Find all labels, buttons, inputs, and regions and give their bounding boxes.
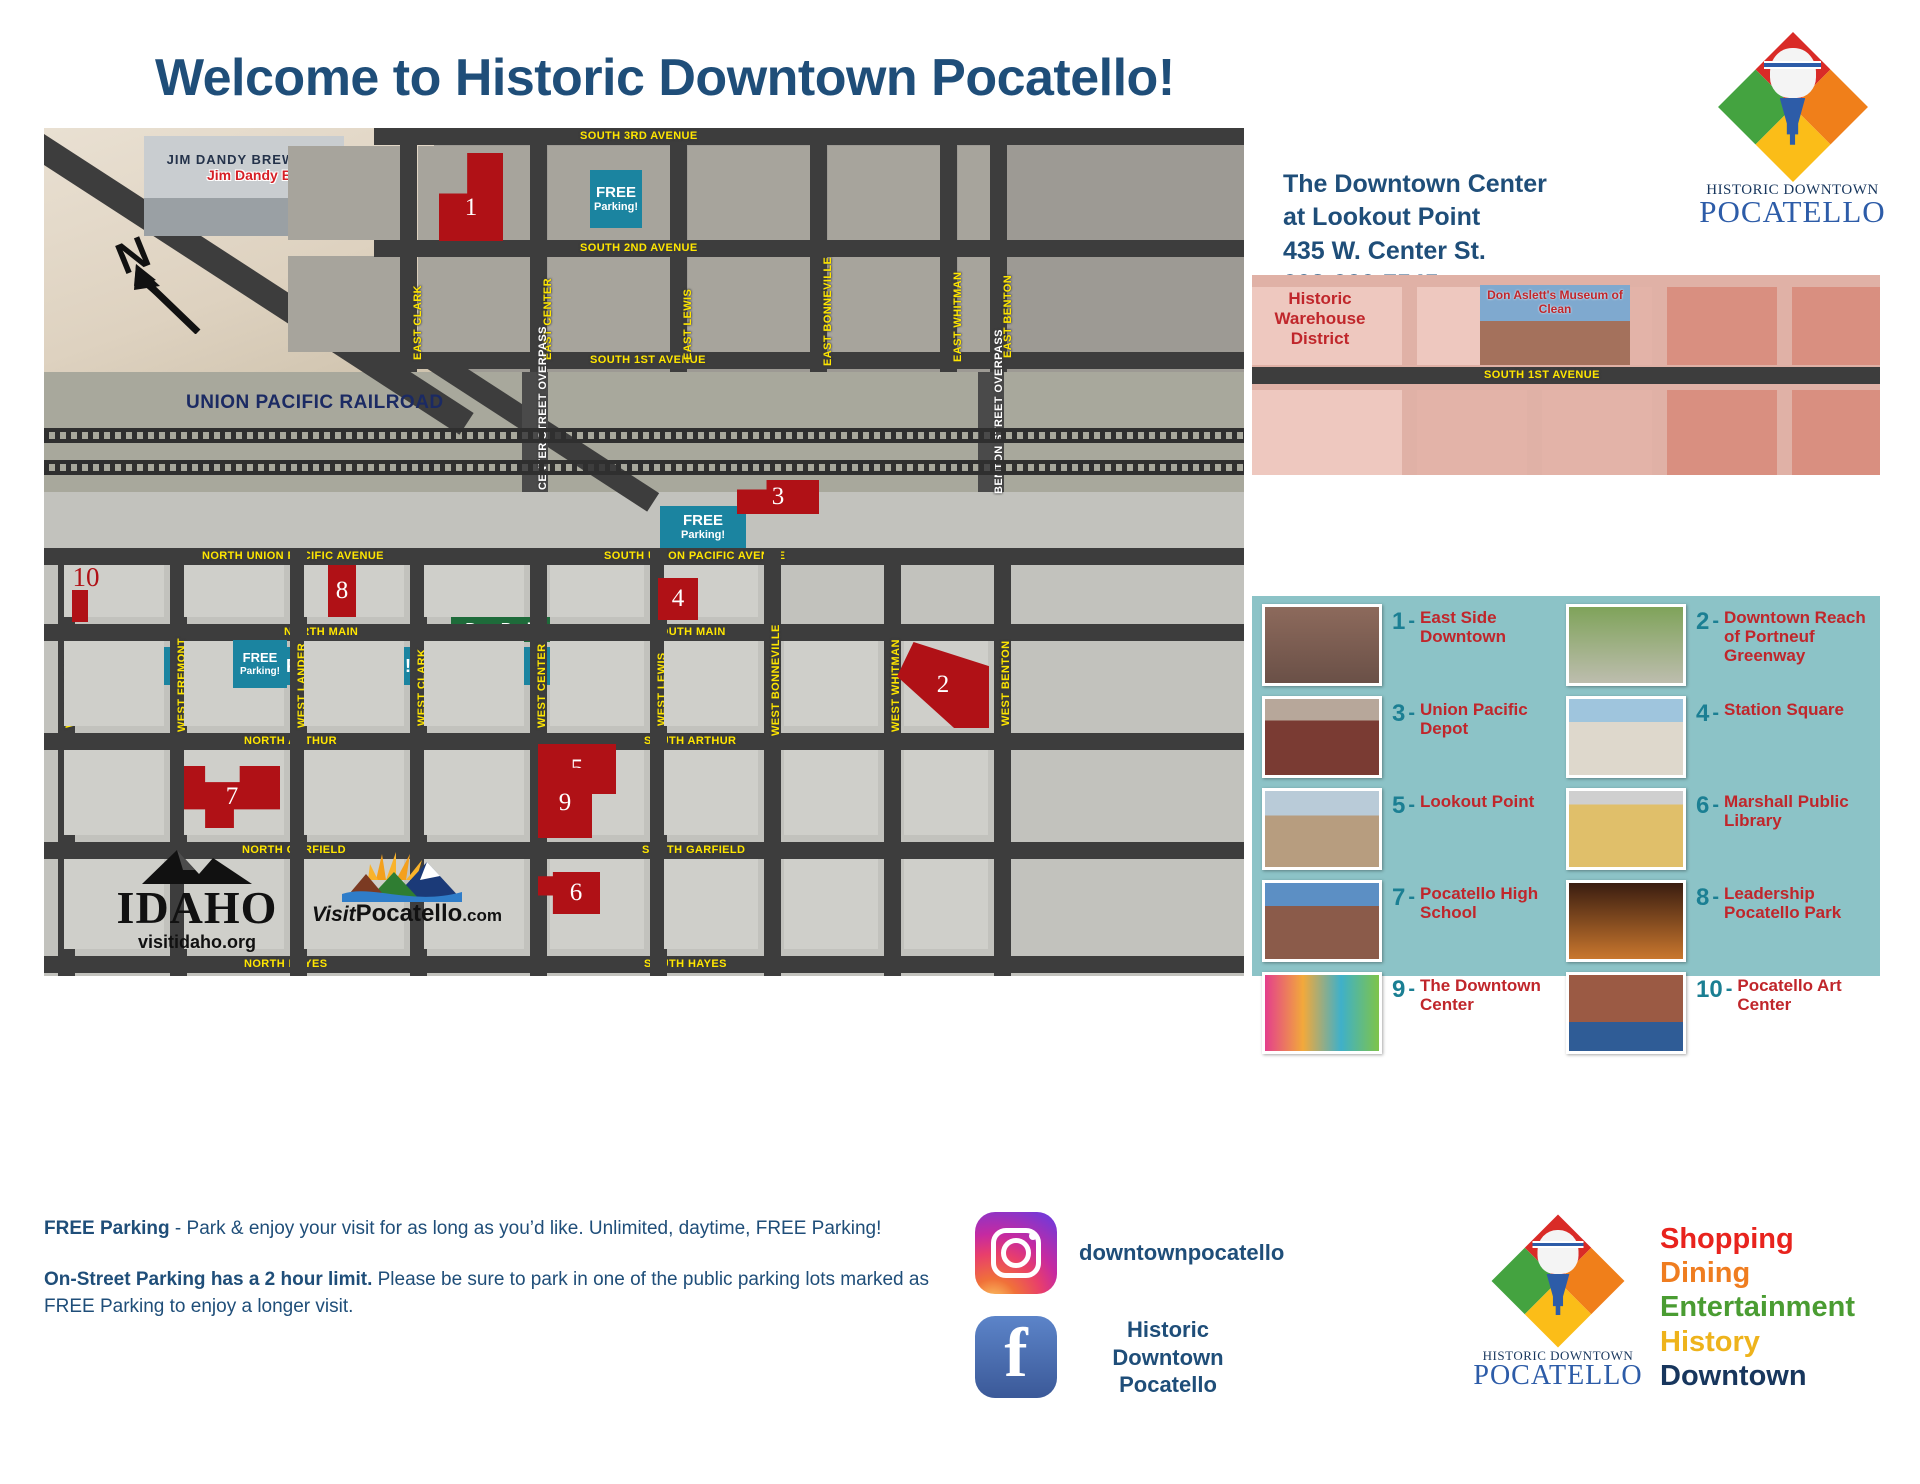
street-label-south-3rd-avenue: SOUTH 3RD AVENUE <box>580 130 698 142</box>
legend-row: 7-Pocatello High School 8-Leadership Poc… <box>1262 880 1870 972</box>
legend-label-6: Marshall Public Library <box>1724 792 1870 830</box>
map-block <box>1252 390 1402 475</box>
legend-number-1: 1 <box>1392 608 1405 646</box>
torch-icon <box>1538 1230 1579 1334</box>
map-block <box>784 859 878 949</box>
street-label-south-union-pacific-avenue: SOUTH UNION PACIFIC AVENUE <box>604 550 785 562</box>
legend-thumbnail-2 <box>1566 604 1686 686</box>
visit-pocatello-main: Pocatello <box>356 900 463 927</box>
instagram-icon[interactable] <box>975 1212 1057 1294</box>
railroad-track-2 <box>44 460 1244 475</box>
taglines-list: Shopping Dining Entertainment History Do… <box>1660 1222 1855 1393</box>
legend-dash-2: - <box>1709 608 1724 665</box>
legend-number-8: 8 <box>1696 884 1709 922</box>
legend-label-2: Downtown Reach of Portneuf Greenway <box>1724 608 1870 665</box>
map-block <box>1667 390 1777 475</box>
legend-dash-9: - <box>1405 976 1420 1014</box>
museum-of-clean-label: Don Aslett's Museum of Clean <box>1480 285 1630 317</box>
legend-dash-5: - <box>1405 792 1420 820</box>
legend-item-6[interactable]: 6-Marshall Public Library <box>1566 788 1870 880</box>
facebook-icon[interactable]: f <box>975 1316 1057 1398</box>
social-links: downtownpocatello f Historic Downtown Po… <box>975 1212 1395 1421</box>
footer-parking-info: FREE Parking - Park & enjoy your visit f… <box>44 1216 944 1321</box>
map-marker-10-number: 10 <box>73 562 100 593</box>
legend-number-10: 10 <box>1696 976 1723 1014</box>
facebook-name: Historic Downtown Pocatello <box>1057 1316 1257 1399</box>
legend-row: 1-East Side Downtown 2-Downtown Reach of… <box>1262 604 1870 696</box>
map-block <box>1792 390 1880 475</box>
map-block <box>288 256 408 352</box>
legend-thumbnail-3 <box>1262 696 1382 778</box>
legend-label-9: The Downtown Center <box>1420 976 1566 1014</box>
railroad-track-1 <box>44 428 1244 443</box>
map-block <box>828 146 948 240</box>
free-parking-badge-3-line2: Parking! <box>240 666 280 678</box>
map-block <box>184 565 284 617</box>
visit-pocatello-suffix: .com <box>462 906 502 925</box>
street-label-east-clark: EAST CLARK <box>412 285 424 360</box>
museum-of-clean-photo: Don Aslett's Museum of Clean <box>1480 285 1630 365</box>
railroad-label: UNION PACIFIC RAILROAD <box>186 392 444 414</box>
map-block <box>688 146 818 240</box>
map-block <box>304 750 404 835</box>
legend-label-4: Station Square <box>1724 700 1844 728</box>
legend-number-9: 9 <box>1392 976 1405 1014</box>
legend-thumbnail-7 <box>1262 880 1382 962</box>
map-block <box>1417 390 1527 475</box>
historic-warehouse-district-panel: SOUTH 1ST AVENUE Historic Warehouse Dist… <box>1252 275 1880 475</box>
instagram-handle: downtownpocatello <box>1057 1239 1284 1267</box>
on-street-parking-paragraph: On-Street Parking has a 2 hour limit. Pl… <box>44 1267 944 1321</box>
street-west-whitman <box>884 548 901 976</box>
tagline-downtown: Downtown <box>1660 1359 1855 1393</box>
street-south-1st-avenue <box>374 352 1244 369</box>
legend-dash-3: - <box>1405 700 1420 738</box>
legend-panel: 1-East Side Downtown 2-Downtown Reach of… <box>1252 596 1880 976</box>
footer-logo: HISTORIC DOWNTOWN POCATELLO <box>1458 1218 1658 1392</box>
legend-item-5[interactable]: 5-Lookout Point <box>1262 788 1566 880</box>
map-marker-9-number: 9 <box>559 789 572 817</box>
map-marker-2-number: 2 <box>937 671 950 699</box>
map-block <box>664 859 758 949</box>
legend-dash-4: - <box>1709 700 1724 728</box>
legend-dash-8: - <box>1709 884 1724 922</box>
on-street-parking-bold: On-Street Parking has a 2 hour limit. <box>44 1269 372 1290</box>
north-arrow-icon: N <box>90 224 210 334</box>
street-label-west-bonneville: WEST BONNEVILLE <box>770 624 782 736</box>
map-block <box>1667 287 1777 365</box>
map-block <box>904 859 988 949</box>
street-label-south-1st-avenue-east: SOUTH 1ST AVENUE <box>1484 369 1600 381</box>
map-marker-7-number: 7 <box>226 783 239 811</box>
visit-pocatello-pre: Visit <box>312 903 356 926</box>
legend-label-10: Pocatello Art Center <box>1737 976 1870 1014</box>
map-block <box>64 750 164 835</box>
free-parking-badge-1-line2: Parking! <box>594 201 638 214</box>
map-marker-8-number: 8 <box>336 577 349 605</box>
map-block <box>418 256 538 352</box>
free-parking-badge-2[interactable]: FREE Parking! <box>660 506 746 548</box>
page-title: Welcome to Historic Downtown Pocatello! <box>155 48 1175 108</box>
map-marker-8[interactable]: 8 <box>328 565 356 617</box>
contact-line-2: at Lookout Point <box>1283 201 1729 234</box>
street-label-east-bonneville: EAST BONNEVILLE <box>822 257 834 366</box>
legend-thumbnail-5 <box>1262 788 1382 870</box>
street-label-east-whitman: EAST WHITMAN <box>952 272 964 362</box>
legend-row: 3-Union Pacific Depot 4-Station Square <box>1262 696 1870 788</box>
contact-address: 435 W. Center St. <box>1283 235 1729 268</box>
street-west-bonneville <box>764 548 781 976</box>
legend-thumbnail-4 <box>1566 696 1686 778</box>
map-block <box>550 641 644 726</box>
map-block <box>688 256 818 352</box>
street-main <box>44 624 1244 641</box>
map-block <box>424 750 524 835</box>
street-south-2nd-avenue <box>374 240 1244 257</box>
legend-label-7: Pocatello High School <box>1420 884 1566 922</box>
legend-row: 5-Lookout Point 6-Marshall Public Librar… <box>1262 788 1870 880</box>
legend-dash-10: - <box>1723 976 1738 1014</box>
legend-dash-7: - <box>1405 884 1420 922</box>
free-parking-paragraph: FREE Parking - Park & enjoy your visit f… <box>44 1216 944 1243</box>
map-block <box>784 750 878 835</box>
map-block <box>304 641 404 726</box>
map-block <box>828 256 948 352</box>
map-marker-4[interactable]: 4 <box>658 578 698 620</box>
map-block <box>550 565 644 617</box>
street-label-west-benton: WEST BENTON <box>1000 641 1012 726</box>
map-block <box>784 641 878 726</box>
legend-item-1[interactable]: 1-East Side Downtown <box>1262 604 1566 696</box>
legend-number-4: 4 <box>1696 700 1709 728</box>
legend-item-4[interactable]: 4-Station Square <box>1566 696 1870 788</box>
visit-idaho-logo: IDAHO visitidaho.org <box>102 846 292 953</box>
legend-row: 9-The Downtown Center 10-Pocatello Art C… <box>1262 972 1870 1064</box>
legend-thumbnail-1 <box>1262 604 1382 686</box>
legend-dash-1: - <box>1405 608 1420 646</box>
legend-thumbnail-6 <box>1566 788 1686 870</box>
map-block <box>664 750 758 835</box>
map-block <box>64 641 164 726</box>
legend-label-5: Lookout Point <box>1420 792 1534 820</box>
map-marker-9[interactable]: 9 <box>538 768 592 838</box>
map-block <box>1792 287 1880 365</box>
torch-icon <box>1770 48 1816 166</box>
free-parking-badge-1[interactable]: FREE Parking! <box>590 170 642 228</box>
footer-logo-bottom-text: POCATELLO <box>1458 1360 1658 1392</box>
contact-line-1: The Downtown Center <box>1283 168 1729 201</box>
map-marker-6-number: 6 <box>570 879 583 907</box>
tagline-entertainment: Entertainment <box>1660 1290 1855 1324</box>
facebook-row[interactable]: f Historic Downtown Pocatello <box>975 1316 1395 1399</box>
map-block <box>288 146 408 240</box>
free-parking-badge-3-line1: FREE <box>243 651 278 666</box>
street-label-west-center: WEST CENTER <box>536 644 548 728</box>
street-west-benton <box>994 548 1011 976</box>
free-parking-rest: - Park & enjoy your visit for as long as… <box>170 1218 882 1239</box>
map-marker-10[interactable]: 10 <box>66 560 106 594</box>
free-parking-badge-3[interactable]: FREE Parking! <box>233 640 287 688</box>
map-block <box>548 256 678 352</box>
warehouse-district-label: Historic Warehouse District <box>1256 289 1384 349</box>
street-label-west-whitman: WEST WHITMAN <box>890 639 902 732</box>
map-marker-4-number: 4 <box>672 585 685 613</box>
legend-item-8[interactable]: 8-Leadership Pocatello Park <box>1566 880 1870 972</box>
legend-item-3[interactable]: 3-Union Pacific Depot <box>1262 696 1566 788</box>
tagline-dining: Dining <box>1660 1256 1855 1290</box>
idaho-url: visitidaho.org <box>102 932 292 953</box>
street-label-north-hayes: NORTH HAYES <box>244 958 327 970</box>
map-block <box>664 641 758 726</box>
map-block <box>1542 390 1652 475</box>
legend-dash-6: - <box>1709 792 1724 830</box>
map-block <box>424 565 524 617</box>
legend-number-7: 7 <box>1392 884 1405 922</box>
street-south-3rd-avenue <box>374 128 1244 145</box>
map-block <box>904 750 988 835</box>
map-block <box>424 641 524 726</box>
legend-label-1: East Side Downtown <box>1420 608 1566 646</box>
instagram-row[interactable]: downtownpocatello <box>975 1212 1395 1294</box>
legend-item-2[interactable]: 2-Downtown Reach of Portneuf Greenway <box>1566 604 1870 696</box>
legend-number-5: 5 <box>1392 792 1405 820</box>
map-marker-3-number: 3 <box>772 483 785 511</box>
visit-pocatello-logo: VisitPocatello.com <box>302 850 512 928</box>
idaho-wordmark: IDAHO <box>102 886 292 930</box>
legend-label-8: Leadership Pocatello Park <box>1724 884 1870 922</box>
street-label-south-2nd-avenue: SOUTH 2ND AVENUE <box>580 242 698 254</box>
legend-thumbnail-8 <box>1566 880 1686 962</box>
legend-item-10[interactable]: 10-Pocatello Art Center <box>1566 972 1870 1064</box>
legend-item-9[interactable]: 9-The Downtown Center <box>1262 972 1566 1064</box>
legend-thumbnail-9 <box>1262 972 1382 1054</box>
legend-item-7[interactable]: 7-Pocatello High School <box>1262 880 1566 972</box>
legend-number-6: 6 <box>1696 792 1709 830</box>
free-parking-badge-2-line1: FREE <box>683 512 723 529</box>
legend-number-3: 3 <box>1392 700 1405 738</box>
warehouse-district-text: Historic Warehouse District <box>1274 289 1365 348</box>
free-parking-badge-2-line2: Parking! <box>681 529 725 542</box>
free-parking-badge-1-line1: FREE <box>596 184 636 201</box>
downtown-map[interactable]: JIM DANDY BREWING Jim Dandy Brewiing N S… <box>44 128 1244 976</box>
street-label-east-lewis: EAST LEWIS <box>682 289 694 360</box>
legend-number-2: 2 <box>1696 608 1709 665</box>
free-parking-bold: FREE Parking <box>44 1218 170 1239</box>
legend-thumbnail-10 <box>1566 972 1686 1054</box>
tagline-shopping: Shopping <box>1660 1222 1855 1256</box>
map-marker-10-block[interactable] <box>72 590 88 622</box>
legend-label-3: Union Pacific Depot <box>1420 700 1566 738</box>
map-marker-1-number: 1 <box>465 194 478 222</box>
tagline-history: History <box>1660 1325 1855 1359</box>
